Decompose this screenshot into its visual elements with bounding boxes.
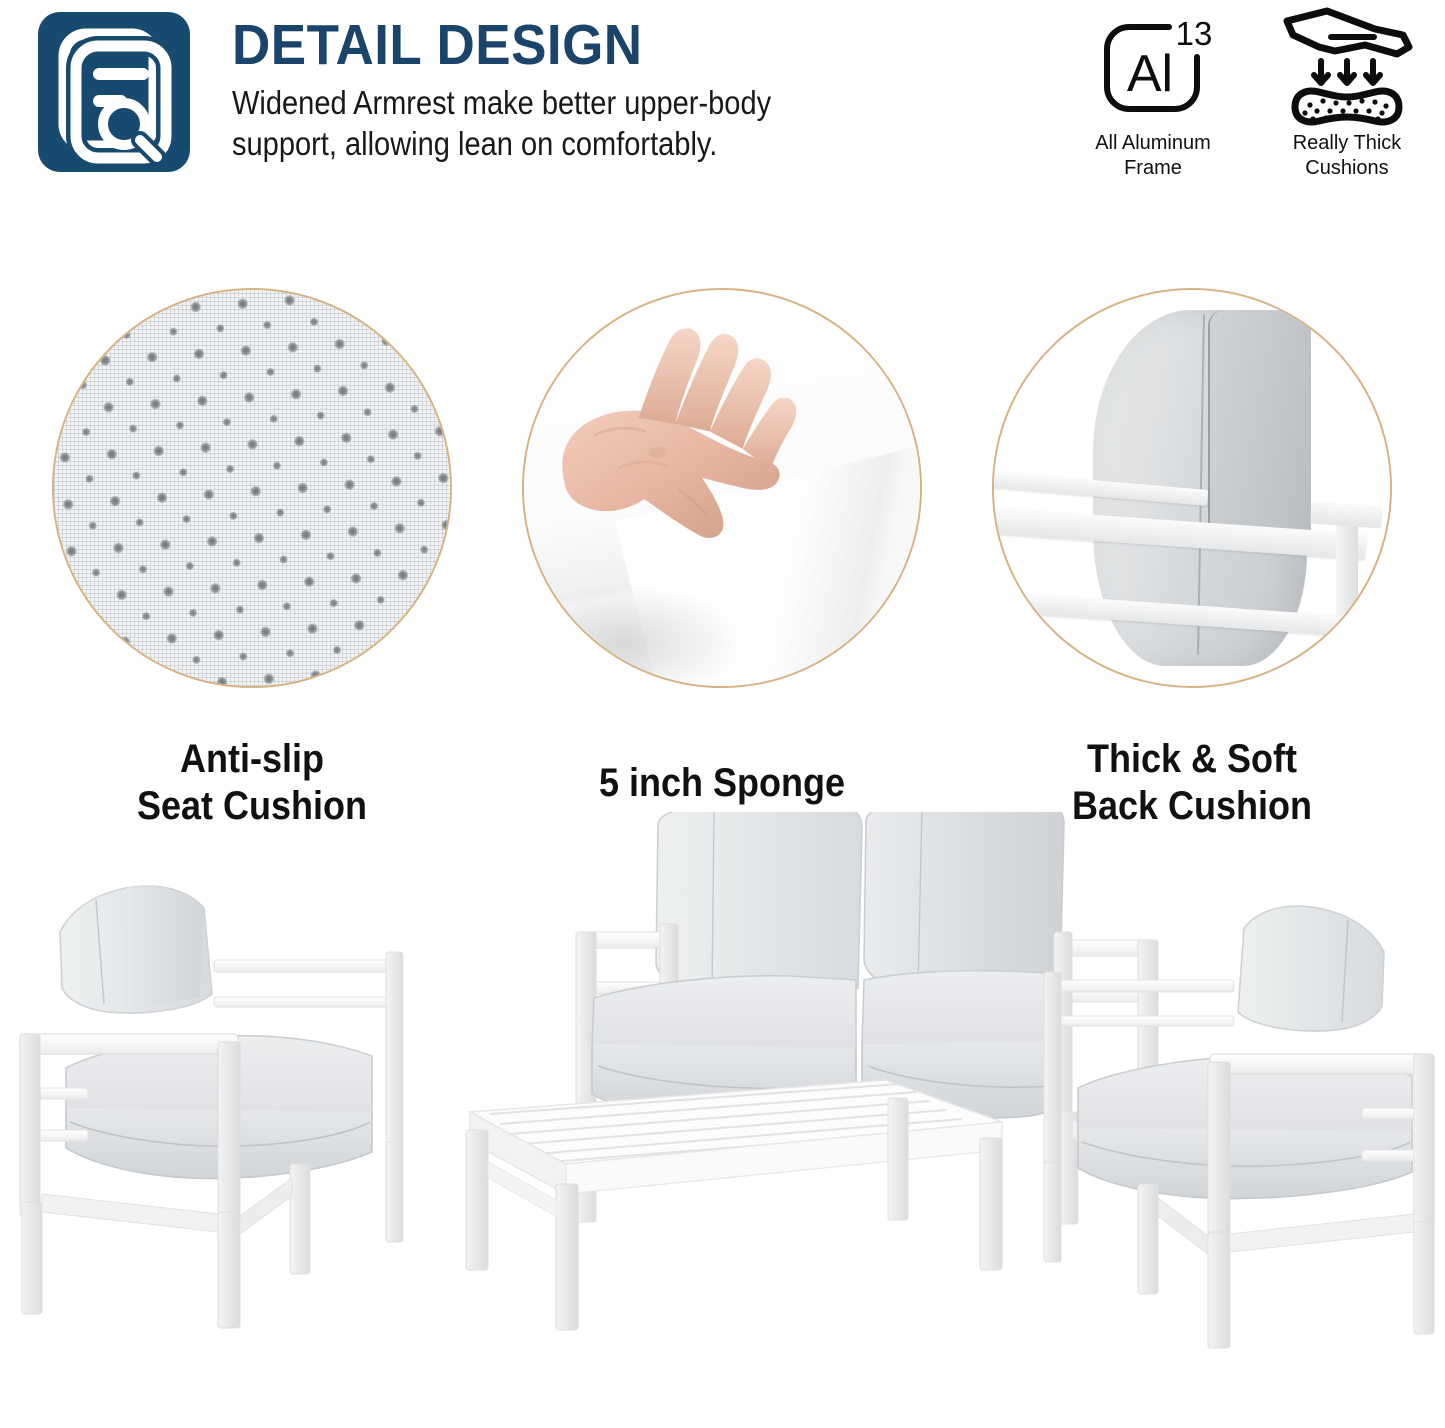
svg-text:Al: Al [1127,45,1173,103]
caption-line1: Thick & Soft [1012,736,1372,783]
back-cushion-scene [994,290,1390,686]
feature-badges: Al 13 All Aluminum Frame [1077,6,1423,181]
product-scene [0,812,1445,1428]
product-detail-infographic: DETAIL DESIGN Widened Armrest make bette… [0,0,1445,1428]
hand-illustration [532,306,865,615]
badge-label-line2: Cushions [1293,156,1402,181]
aluminum-element-icon: Al 13 [1093,6,1213,128]
hand-pressing-cushion-icon [1279,6,1415,128]
hand-pressing-foam-closeup [522,288,922,688]
badge-label-line2: Frame [1095,156,1211,181]
header-section: DETAIL DESIGN Widened Armrest make bette… [0,0,1445,200]
badge-label: Really Thick Cushions [1293,131,1402,181]
fabric-texture [54,290,450,686]
frame-post-horizontal [1310,501,1383,528]
page-title: DETAIL DESIGN [232,14,883,76]
patio-set-illustration [0,812,1445,1428]
back-cushion-side-panel [1208,310,1311,548]
loveseat-center [576,812,1158,1282]
badge-label-line1: Really Thick [1293,131,1402,156]
header-text-block: DETAIL DESIGN Widened Armrest make bette… [232,14,932,164]
caption-5-inch-sponge: 5 inch Sponge [542,760,902,807]
document-search-icon [38,12,190,172]
frame-post-vertical [1336,508,1358,643]
badge-really-thick-cushions: Really Thick Cushions [1271,6,1423,181]
badge-label: All Aluminum Frame [1095,131,1211,181]
fabric-grip-dots-offset [52,288,452,688]
badge-label-line1: All Aluminum [1095,131,1211,156]
caption-line1: Anti-slip [72,736,432,783]
armchair-left [20,886,403,1328]
back-cushion-frame-closeup [992,288,1392,688]
armchair-right [1044,906,1434,1348]
caption-line1: 5 inch Sponge [542,760,902,807]
anti-slip-fabric-closeup [52,288,452,688]
feature-circles [0,288,1445,718]
page-subtitle: Widened Armrest make better upper-body s… [232,82,874,164]
svg-text:13: 13 [1176,15,1213,52]
foam-scene [524,290,920,686]
coffee-table [466,1080,1002,1330]
badge-all-aluminum-frame: Al 13 All Aluminum Frame [1077,6,1229,181]
